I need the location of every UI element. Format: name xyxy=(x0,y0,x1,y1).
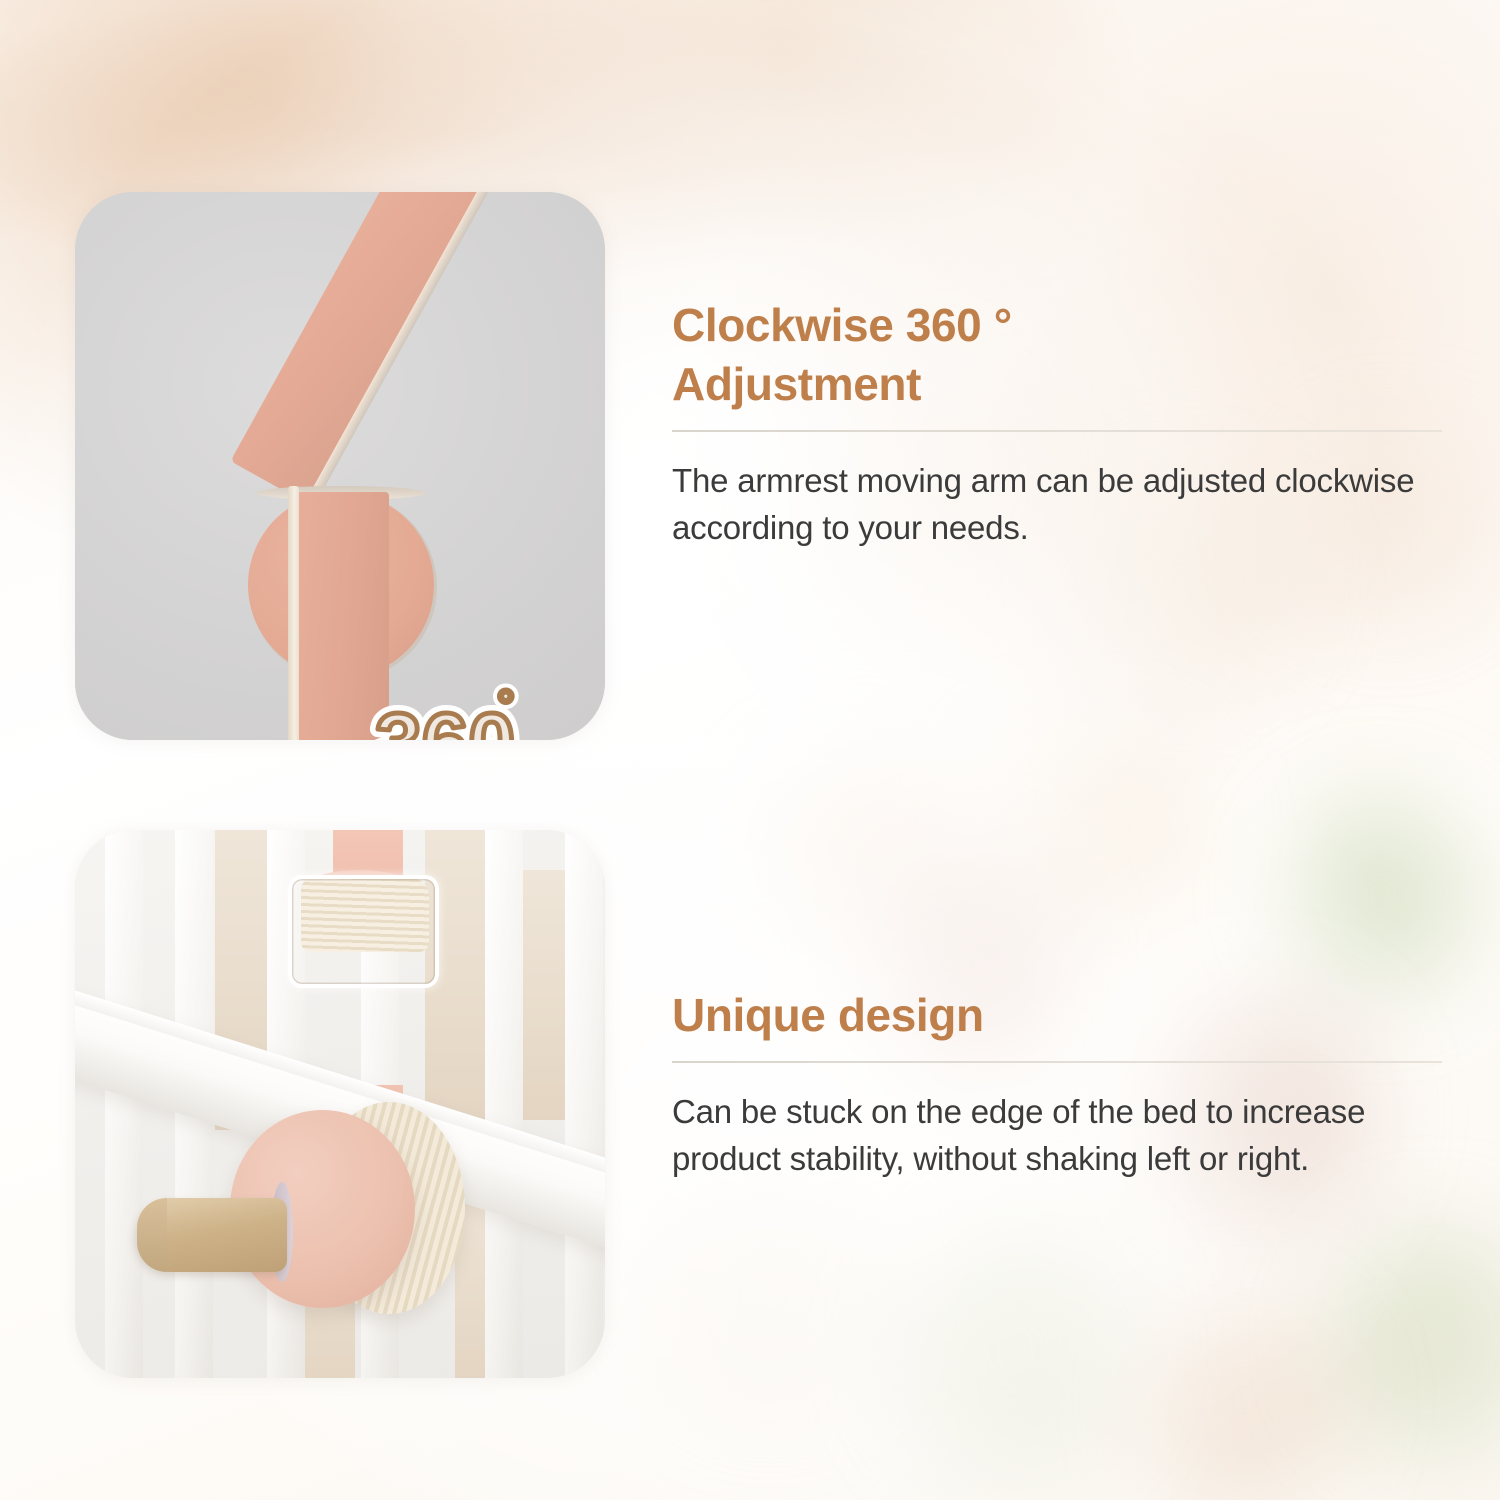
feature-body: Can be stuck on the edge of the bed to i… xyxy=(672,1063,1442,1183)
feature-image-unique-design xyxy=(75,830,605,1378)
feature-text-clockwise-360-adjustment: Clockwise 360 ° Adjustment The armrest m… xyxy=(672,296,1442,551)
feature-title-line-1: Unique design xyxy=(672,989,984,1041)
infographic-canvas: 360 360 ° ° Clockwise 360 ° Adjustment T… xyxy=(0,0,1500,1500)
feature-body: The armrest moving arm can be adjusted c… xyxy=(672,432,1442,552)
feature-title-line-2: Adjustment xyxy=(672,358,921,410)
knob-wood-peg xyxy=(137,1198,287,1272)
feature-title: Unique design xyxy=(672,986,1442,1045)
detail-callout-box xyxy=(288,875,439,988)
crib-slat xyxy=(565,830,603,1378)
feature-image-clockwise-360-adjustment: 360 360 ° ° xyxy=(75,192,605,740)
badge-degree-symbol: ° xyxy=(497,681,515,730)
feature-title-line-1: Clockwise 360 ° xyxy=(672,299,1012,351)
crib-slat xyxy=(105,830,143,1378)
feature-title: Clockwise 360 ° Adjustment xyxy=(672,296,1442,414)
feature-text-unique-design: Unique design Can be stuck on the edge o… xyxy=(672,986,1442,1183)
badge-number: 360 xyxy=(375,696,515,740)
crib-slat xyxy=(485,830,523,1378)
rotation-360-badge: 360 360 ° ° xyxy=(337,680,537,740)
